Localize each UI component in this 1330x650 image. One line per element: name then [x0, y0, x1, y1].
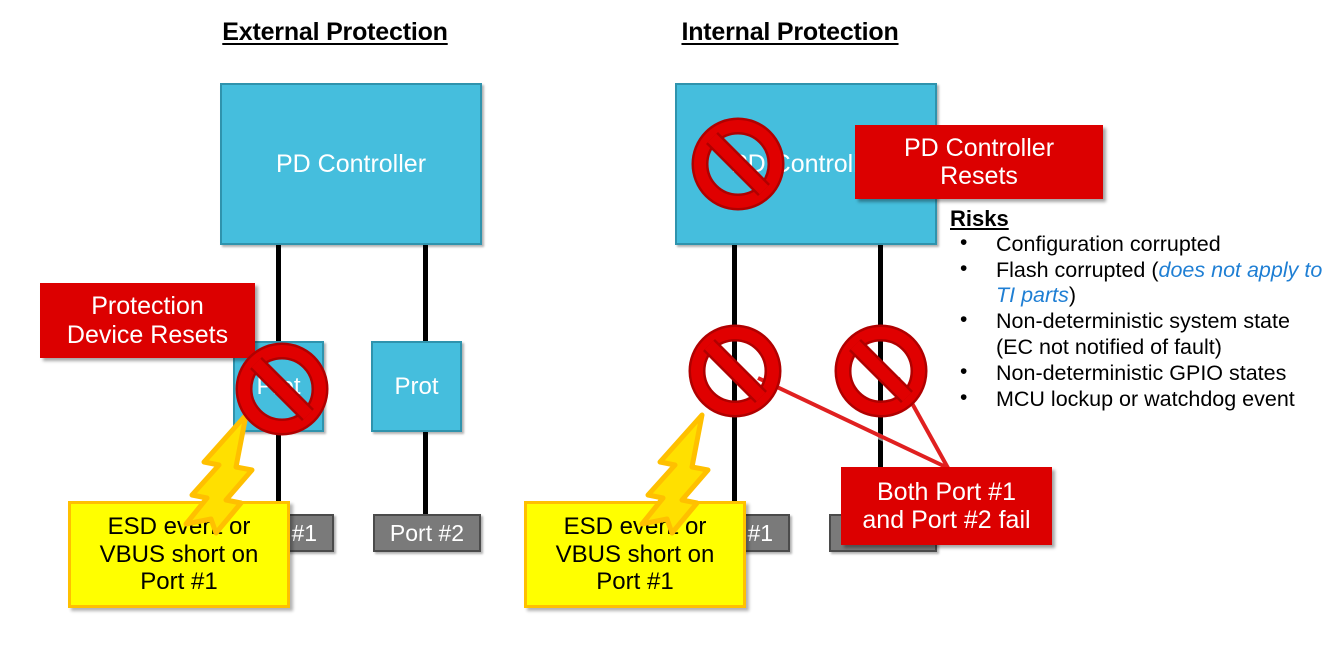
- left-port2-pad: Port #2: [373, 514, 481, 552]
- risks-item-text: Non-deterministic system state (EC not n…: [996, 309, 1290, 358]
- left-pd-controller-label: PD Controller: [276, 150, 426, 179]
- fail-leader-lines: [758, 378, 950, 470]
- risks-item-text: Non-deterministic GPIO states: [996, 361, 1286, 385]
- right-yellow-callout: ESD event or VBUS short on Port #1: [524, 501, 746, 608]
- right-red-callout-line2: Resets: [940, 162, 1018, 190]
- risks-item-text: MCU lockup or watchdog event: [996, 387, 1295, 411]
- left-protection-block-port1-label: Prot: [256, 373, 300, 401]
- risks-list-item: Non-deterministic system state (EC not n…: [950, 309, 1330, 359]
- left-protection-block-port2-label: Prot: [394, 373, 438, 401]
- right-red-callout: PD Controller Resets: [855, 125, 1103, 199]
- diagram-canvas: External Protection PD Controller Prot P…: [0, 0, 1330, 650]
- right-yellow-callout-line3: Port #1: [596, 568, 673, 596]
- right-yellow-callout-line1: ESD event or: [564, 513, 707, 541]
- left-red-callout-line1: Protection: [91, 292, 204, 320]
- left-port2-label: Port #2: [390, 520, 464, 547]
- right-section-title: Internal Protection: [625, 18, 955, 47]
- left-red-callout: Protection Device Resets: [40, 283, 255, 358]
- risks-list-item: Non-deterministic GPIO states: [950, 361, 1330, 386]
- left-yellow-callout: ESD event or VBUS short on Port #1: [68, 501, 290, 608]
- both-ports-fail-line2: and Port #2 fail: [862, 506, 1030, 534]
- left-protection-block-port2: Prot: [371, 341, 462, 432]
- both-ports-fail-line1: Both Port #1: [877, 478, 1016, 506]
- left-yellow-callout-line2: VBUS short on: [100, 541, 259, 569]
- risks-list-item: Flash corrupted (does not apply to TI pa…: [950, 258, 1330, 308]
- risks-item-suffix: ): [1069, 283, 1076, 307]
- right-wire-port1: [732, 245, 737, 515]
- left-section-title: External Protection: [170, 18, 500, 47]
- both-ports-fail-callout: Both Port #1 and Port #2 fail: [841, 467, 1052, 545]
- risks-list-item: Configuration corrupted: [950, 232, 1330, 257]
- left-red-callout-line2: Device Resets: [67, 321, 228, 349]
- risks-heading: Risks: [950, 206, 1330, 232]
- risks-list-item: MCU lockup or watchdog event: [950, 387, 1330, 412]
- risks-item-text: Flash corrupted (: [996, 258, 1159, 282]
- left-pd-controller-block: PD Controller: [220, 83, 482, 245]
- risks-panel: Risks Configuration corruptedFlash corru…: [950, 206, 1330, 413]
- left-yellow-callout-line3: Port #1: [140, 568, 217, 596]
- left-yellow-callout-line1: ESD event or: [108, 513, 251, 541]
- left-wire-port2-lower: [423, 432, 428, 515]
- right-yellow-callout-line2: VBUS short on: [556, 541, 715, 569]
- right-red-callout-line1: PD Controller: [904, 134, 1054, 162]
- risks-list: Configuration corruptedFlash corrupted (…: [950, 232, 1330, 412]
- risks-item-text: Configuration corrupted: [996, 232, 1221, 256]
